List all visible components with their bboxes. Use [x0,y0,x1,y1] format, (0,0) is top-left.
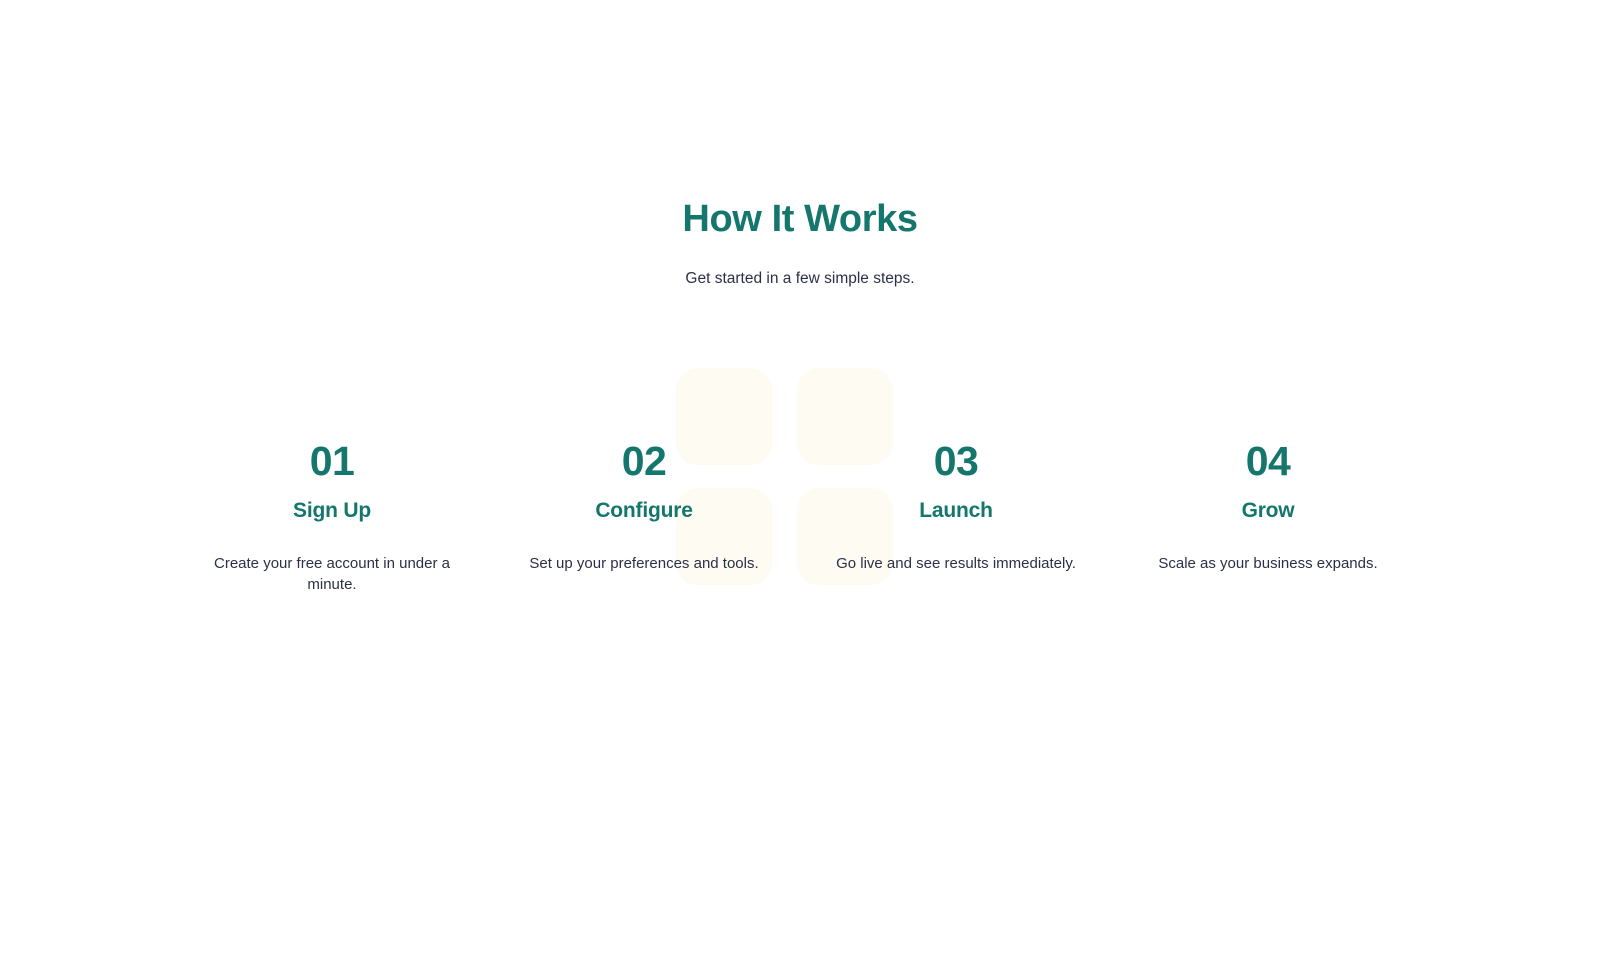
step-title: Grow [1138,497,1398,525]
step-description: Scale as your business expands. [1138,553,1398,574]
how-it-works-section: How It Works Get started in a few simple… [0,0,1600,978]
step-description: Set up your preferences and tools. [514,553,774,574]
step-title: Launch [826,497,1086,525]
step-number: 04 [1138,436,1398,486]
step-card-2: 02 Configure Set up your preferences and… [488,436,800,595]
steps-grid: 01 Sign Up Create your free account in u… [176,436,1424,595]
step-description: Create your free account in under a minu… [202,553,462,595]
step-card-1: 01 Sign Up Create your free account in u… [176,436,488,595]
step-number: 03 [826,436,1086,486]
step-description: Go live and see results immediately. [826,553,1086,574]
step-card-4: 04 Grow Scale as your business expands. [1112,436,1424,595]
step-title: Configure [514,497,774,525]
step-number: 01 [202,436,462,486]
step-card-3: 03 Launch Go live and see results immedi… [800,436,1112,595]
page-title: How It Works [0,196,1600,242]
step-title: Sign Up [202,497,462,525]
step-number: 02 [514,436,774,486]
page-subtitle: Get started in a few simple steps. [0,268,1600,289]
